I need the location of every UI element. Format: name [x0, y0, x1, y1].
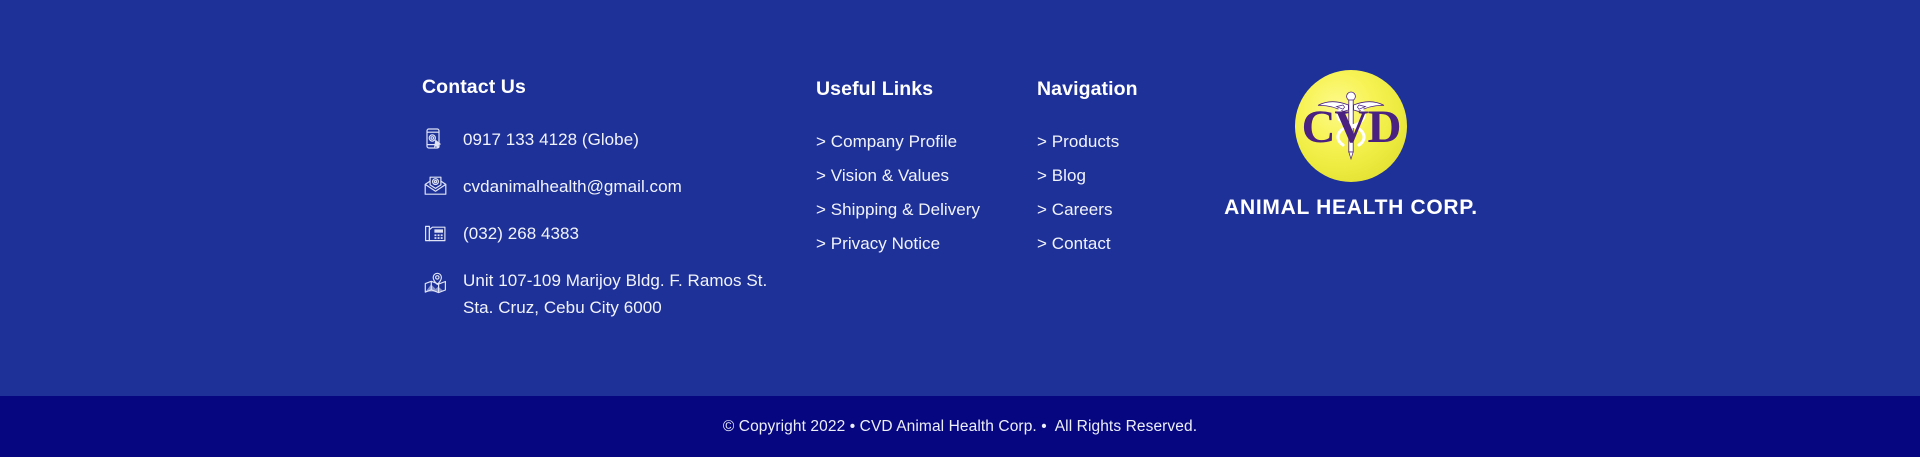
useful-links-title: Useful Links [816, 78, 1036, 101]
mobile-phone-icon [422, 126, 448, 152]
svg-text:CVD: CVD [1302, 101, 1401, 153]
link-privacy-notice[interactable]: > Privacy Notice [816, 230, 1036, 257]
contact-column: Contact Us [422, 76, 822, 321]
contact-item-address: Unit 107-109 Marijoy Bldg. F. Ramos St. … [422, 267, 822, 321]
contact-column-title: Contact Us [422, 76, 822, 99]
brand-logo-block[interactable]: CVD ANIMAL HEALTH CORP. [1196, 70, 1506, 220]
link-contact[interactable]: > Contact [1037, 230, 1237, 257]
useful-links-list: > Company Profile > Vision & Values > Sh… [816, 128, 1036, 257]
contact-item-mobile: 0917 133 4128 (Globe) [422, 126, 822, 153]
brand-name-text: ANIMAL HEALTH CORP. [1224, 196, 1478, 220]
contact-address-value[interactable]: Unit 107-109 Marijoy Bldg. F. Ramos St. … [463, 267, 767, 321]
site-footer: Contact Us [0, 0, 1920, 457]
contact-email-value[interactable]: cvdanimalhealth@gmail.com [463, 173, 682, 200]
map-location-icon [422, 270, 448, 296]
contact-list: 0917 133 4128 (Globe) cv [422, 126, 822, 321]
contact-landline-value[interactable]: (032) 268 4383 [463, 220, 579, 247]
link-shipping-delivery[interactable]: > Shipping & Delivery [816, 196, 1036, 223]
contact-mobile-value[interactable]: 0917 133 4128 (Globe) [463, 126, 639, 153]
footer-main-area: Contact Us [0, 0, 1920, 396]
email-envelope-icon [422, 173, 448, 199]
landline-phone-icon [422, 220, 448, 246]
footer-content-wrapper: Contact Us [0, 0, 1920, 396]
link-vision-values[interactable]: > Vision & Values [816, 162, 1036, 189]
link-company-profile[interactable]: > Company Profile [816, 128, 1036, 155]
contact-item-landline: (032) 268 4383 [422, 220, 822, 247]
useful-links-column: Useful Links > Company Profile > Vision … [816, 78, 1036, 257]
contact-item-email: cvdanimalhealth@gmail.com [422, 173, 822, 200]
copyright-text: © Copyright 2022 • CVD Animal Health Cor… [723, 418, 1197, 436]
copyright-bar: © Copyright 2022 • CVD Animal Health Cor… [0, 396, 1920, 457]
cvd-logo-icon: CVD [1295, 70, 1407, 182]
